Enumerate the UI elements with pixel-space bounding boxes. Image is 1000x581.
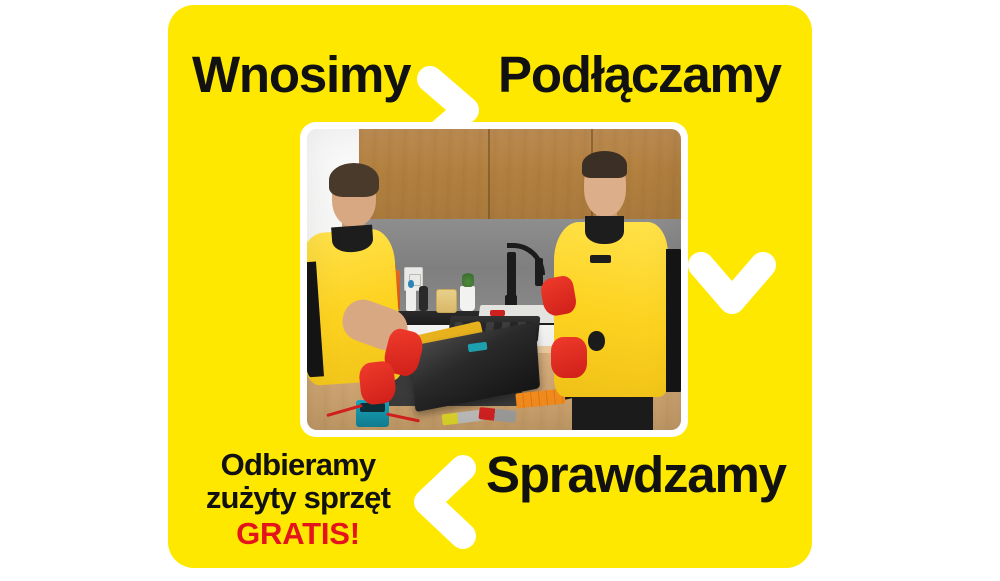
red-glove-right-tech-lower xyxy=(551,337,587,378)
chevron-down-icon xyxy=(687,251,777,317)
installation-photo xyxy=(307,129,681,430)
red-glove-right-tech-upper xyxy=(539,274,578,317)
red-glove-left-tech-lower xyxy=(358,360,397,405)
headline-row-top: Wnosimy Podłączamy xyxy=(168,39,812,119)
chevron-left-icon xyxy=(411,452,477,552)
technician-left xyxy=(307,168,464,430)
installation-photo-frame xyxy=(300,122,688,437)
pickup-block: Odbieramy zużyty sprzęt GRATIS! xyxy=(178,448,418,550)
pickup-line-2: zużyty sprzęt xyxy=(178,481,418,514)
promo-card: Wnosimy Podłączamy xyxy=(168,5,812,568)
technician-right xyxy=(539,156,681,430)
wristwatch xyxy=(588,331,604,350)
red-clip xyxy=(490,310,505,316)
pickup-line-1: Odbieramy xyxy=(178,448,418,481)
step-label-podlaczamy: Podłączamy xyxy=(498,49,781,100)
step-label-wnosimy: Wnosimy xyxy=(192,49,410,100)
screenshot-canvas: Wnosimy Podłączamy xyxy=(0,0,1000,581)
pickup-free-badge: GRATIS! xyxy=(178,517,418,550)
step-label-sprawdzamy: Sprawdzamy xyxy=(486,449,786,500)
